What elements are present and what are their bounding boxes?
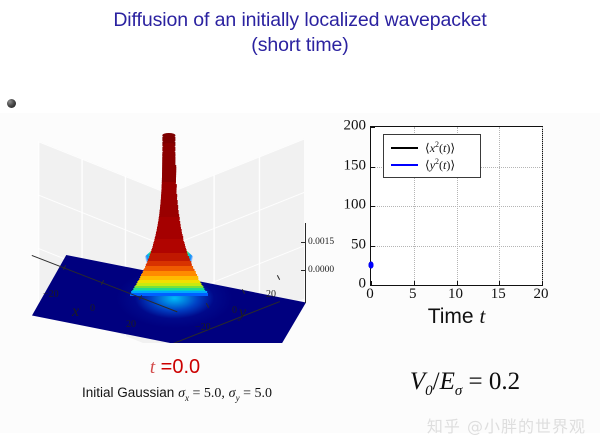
chart-x-axis-title: Time t [370, 304, 543, 329]
chart-y-tickmark [371, 206, 375, 207]
chart-y-tick-label: 150 [344, 157, 367, 174]
sigma-y-eq: = [240, 386, 255, 401]
chart-x-tick-label: 0 [366, 286, 374, 303]
potential-ratio-caption: V0/Eσ = 0.2 [370, 368, 560, 400]
surface-z-tickmark-1 [301, 270, 306, 271]
chart-plot-area: ⟨x2(t)⟩ ⟨y2(t)⟩ [370, 126, 543, 286]
surface-x-axis-label: x [72, 303, 79, 321]
ratio-slash: / [433, 368, 440, 395]
time-caption-value: 0.0 [172, 356, 200, 378]
ratio-eq: = [462, 368, 489, 395]
sigma-x-symbol: σx [178, 386, 189, 401]
chart-y-tickmark [371, 246, 375, 247]
page-title: Diffusion of an initially localized wave… [0, 8, 600, 58]
bullet-marker-icon [7, 99, 16, 108]
surface-x-tick-1: 0 [90, 303, 95, 314]
chart-legend[interactable]: ⟨x2(t)⟩ ⟨y2(t)⟩ [383, 134, 481, 178]
chart-x-tickmark [414, 281, 415, 285]
gaussian-caption: Initial Gaussian σx = 5.0, σy = 5.0 [22, 385, 332, 403]
chart-y-tickmark [371, 167, 375, 168]
surface-plot-stage: −20 0 20 x −20 0 20 y 0.0015 0.0000 [8, 115, 340, 343]
sigma-y-symbol: σy [229, 386, 240, 401]
surface-z-tick-lower: 0.0000 [308, 265, 334, 275]
surface-x-tick-0: −20 [43, 289, 59, 300]
time-caption-eq: = [155, 356, 172, 378]
surface-z-tick-upper: 0.0015 [308, 237, 334, 247]
chart-gridline-horizontal [371, 206, 542, 207]
legend-label-y2: ⟨y2(t)⟩ [425, 157, 455, 173]
surface-y-axis-label: y [239, 304, 246, 322]
surface-y-tick-2: 20 [266, 289, 276, 300]
gaussian-peak [130, 133, 208, 293]
chart-x-tick-label: 15 [491, 286, 506, 303]
page-title-line-1: Diffusion of an initially localized wave… [0, 8, 600, 33]
sigma-x-eq: = [189, 386, 204, 401]
chart-x-tickmark [499, 281, 500, 285]
ratio-v-subscript: 0 [425, 383, 433, 399]
chart-data-point [369, 262, 374, 269]
sigma-y-value: 5.0 [254, 386, 272, 401]
slide-canvas: Diffusion of an initially localized wave… [0, 0, 600, 446]
chart-x-tick-label: 20 [534, 286, 549, 303]
surface-z-tickmark-0 [301, 242, 306, 243]
chart-y-tick-label: 200 [344, 118, 367, 135]
watermark: 知乎 @小胖的世界观 [427, 413, 586, 437]
legend-label-x2: ⟨x2(t)⟩ [425, 140, 455, 156]
legend-swatch-x2 [391, 147, 418, 149]
chart-x-tick-label: 10 [448, 286, 463, 303]
chart-gridline-horizontal [371, 246, 542, 247]
chart-y-tick-label: 0 [359, 276, 367, 293]
ratio-v-symbol: V [410, 368, 425, 395]
legend-entry-y2: ⟨y2(t)⟩ [388, 156, 476, 173]
surface-z-axis-line [305, 223, 306, 303]
chart-y-tick-label: 50 [351, 236, 366, 253]
ratio-value: 0.2 [489, 368, 520, 395]
msd-chart-figure: ⟨x2(t)⟩ ⟨y2(t)⟩ 050100150200 05101520 Ti… [344, 118, 592, 333]
chart-y-tick-label: 100 [344, 197, 367, 214]
legend-swatch-y2 [391, 164, 418, 166]
chart-x-tickmark [542, 281, 543, 285]
chart-y-tickmark [371, 127, 375, 128]
ratio-e-symbol: E [440, 368, 455, 395]
surface-y-tick-0: −20 [195, 322, 211, 333]
surface-y-tick-1: 0 [232, 305, 237, 316]
chart-gridline-vertical [542, 127, 543, 285]
gaussian-caption-prefix: Initial Gaussian [82, 385, 178, 400]
sigma-x-value: 5.0, [204, 386, 225, 401]
surface-plot-figure: −20 0 20 x −20 0 20 y 0.0015 0.0000 [8, 115, 340, 343]
chart-x-tickmark [457, 281, 458, 285]
surface-x-tick-2: 20 [126, 319, 136, 330]
legend-entry-x2: ⟨x2(t)⟩ [388, 139, 476, 156]
page-title-line-2: (short time) [0, 33, 600, 58]
chart-x-tick-label: 5 [409, 286, 417, 303]
time-caption: t =0.0 [40, 356, 310, 379]
